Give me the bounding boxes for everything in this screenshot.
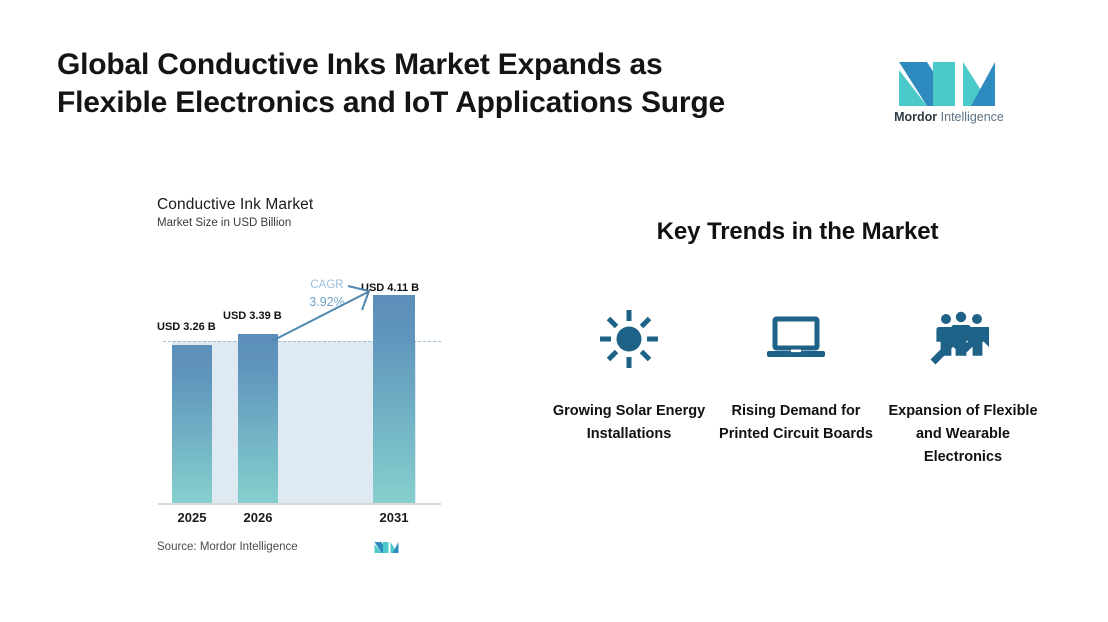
infographic-canvas: Global Conductive Inks Market Expands as… <box>0 0 1108 622</box>
page-title-line-2: Flexible Electronics and IoT Application… <box>57 84 847 122</box>
sun-icon <box>549 300 709 378</box>
trend-label-pcb: Rising Demand for Printed Circuit Boards <box>716 400 876 446</box>
page-title-line-1: Global Conductive Inks Market Expands as <box>57 48 663 81</box>
bar-2031[interactable] <box>373 295 415 503</box>
bar-chart: USD 3.26 B USD 3.39 B USD 4.11 B CAGR 3.… <box>150 270 450 520</box>
brand-word-bold: Mordor <box>894 110 937 124</box>
x-tick-2031: 2031 <box>364 510 424 525</box>
growth-arrow-icon <box>268 278 378 348</box>
people-growth-icon <box>883 300 1043 378</box>
trend-card-flexible: Expansion of Flexible and Wearable Elect… <box>883 300 1043 469</box>
trend-card-solar: Growing Solar Energy Installations <box>549 300 709 446</box>
mordor-intelligence-mark-icon <box>893 50 1005 106</box>
laptop-icon <box>716 300 876 378</box>
chart-source: Source: Mordor Intelligence <box>157 541 298 553</box>
page-title: Global Conductive Inks Market Expands as… <box>57 46 847 123</box>
source-logo-icon <box>373 538 401 554</box>
bar-2025[interactable] <box>172 345 212 503</box>
trend-label-solar: Growing Solar Energy Installations <box>549 400 709 446</box>
trend-card-pcb: Rising Demand for Printed Circuit Boards <box>716 300 876 446</box>
brand-logo: Mordor Intelligence <box>893 50 1005 134</box>
brand-wordmark: Mordor Intelligence <box>893 110 1005 124</box>
chart-subtitle: Market Size in USD Billion <box>157 217 291 229</box>
bar-label-2025: USD 3.26 B <box>157 321 216 333</box>
trend-label-flexible: Expansion of Flexible and Wearable Elect… <box>883 400 1043 469</box>
x-axis-line <box>158 503 441 505</box>
x-tick-2025: 2025 <box>162 510 222 525</box>
brand-word-light: Intelligence <box>941 110 1004 124</box>
bar-2026[interactable] <box>238 334 278 503</box>
trends-heading: Key Trends in the Market <box>560 218 1035 246</box>
chart-title: Conductive Ink Market <box>157 196 313 214</box>
x-tick-2026: 2026 <box>228 510 288 525</box>
